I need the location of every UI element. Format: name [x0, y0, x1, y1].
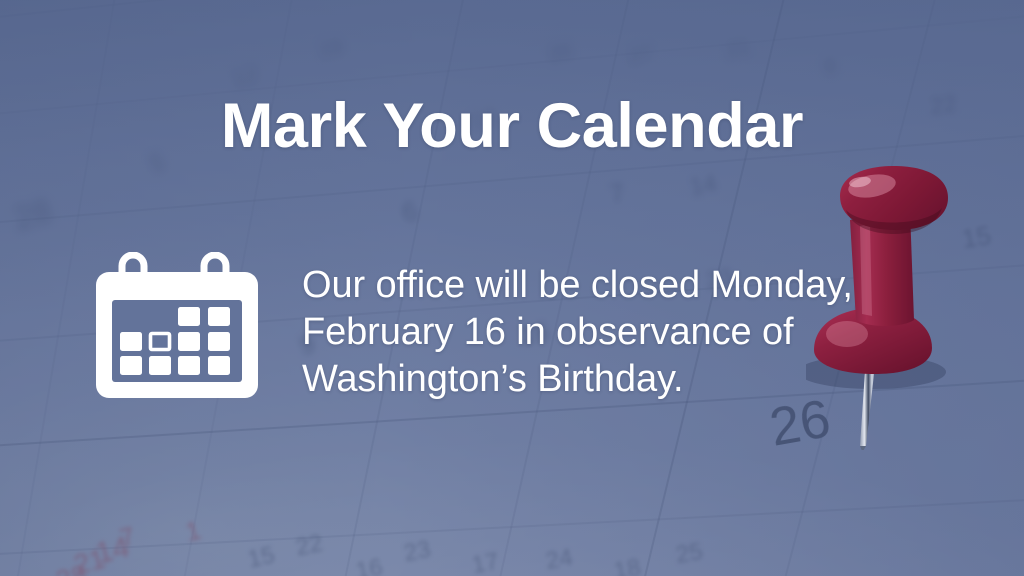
closure-message-line: Washington’s Birthday. — [302, 356, 868, 403]
banner-content: Mark Your Calendar — [0, 0, 1024, 576]
closure-message: Our office will be closed Monday,Februar… — [302, 262, 868, 403]
calendar-icon — [94, 252, 260, 400]
mark-your-calendar-banner: 2851219613202771421822159162326114212871… — [0, 0, 1024, 576]
closure-message-line: February 16 in observance of — [302, 309, 868, 356]
page-title: Mark Your Calendar — [0, 92, 1024, 160]
closure-message-line: Our office will be closed Monday, — [302, 262, 868, 309]
